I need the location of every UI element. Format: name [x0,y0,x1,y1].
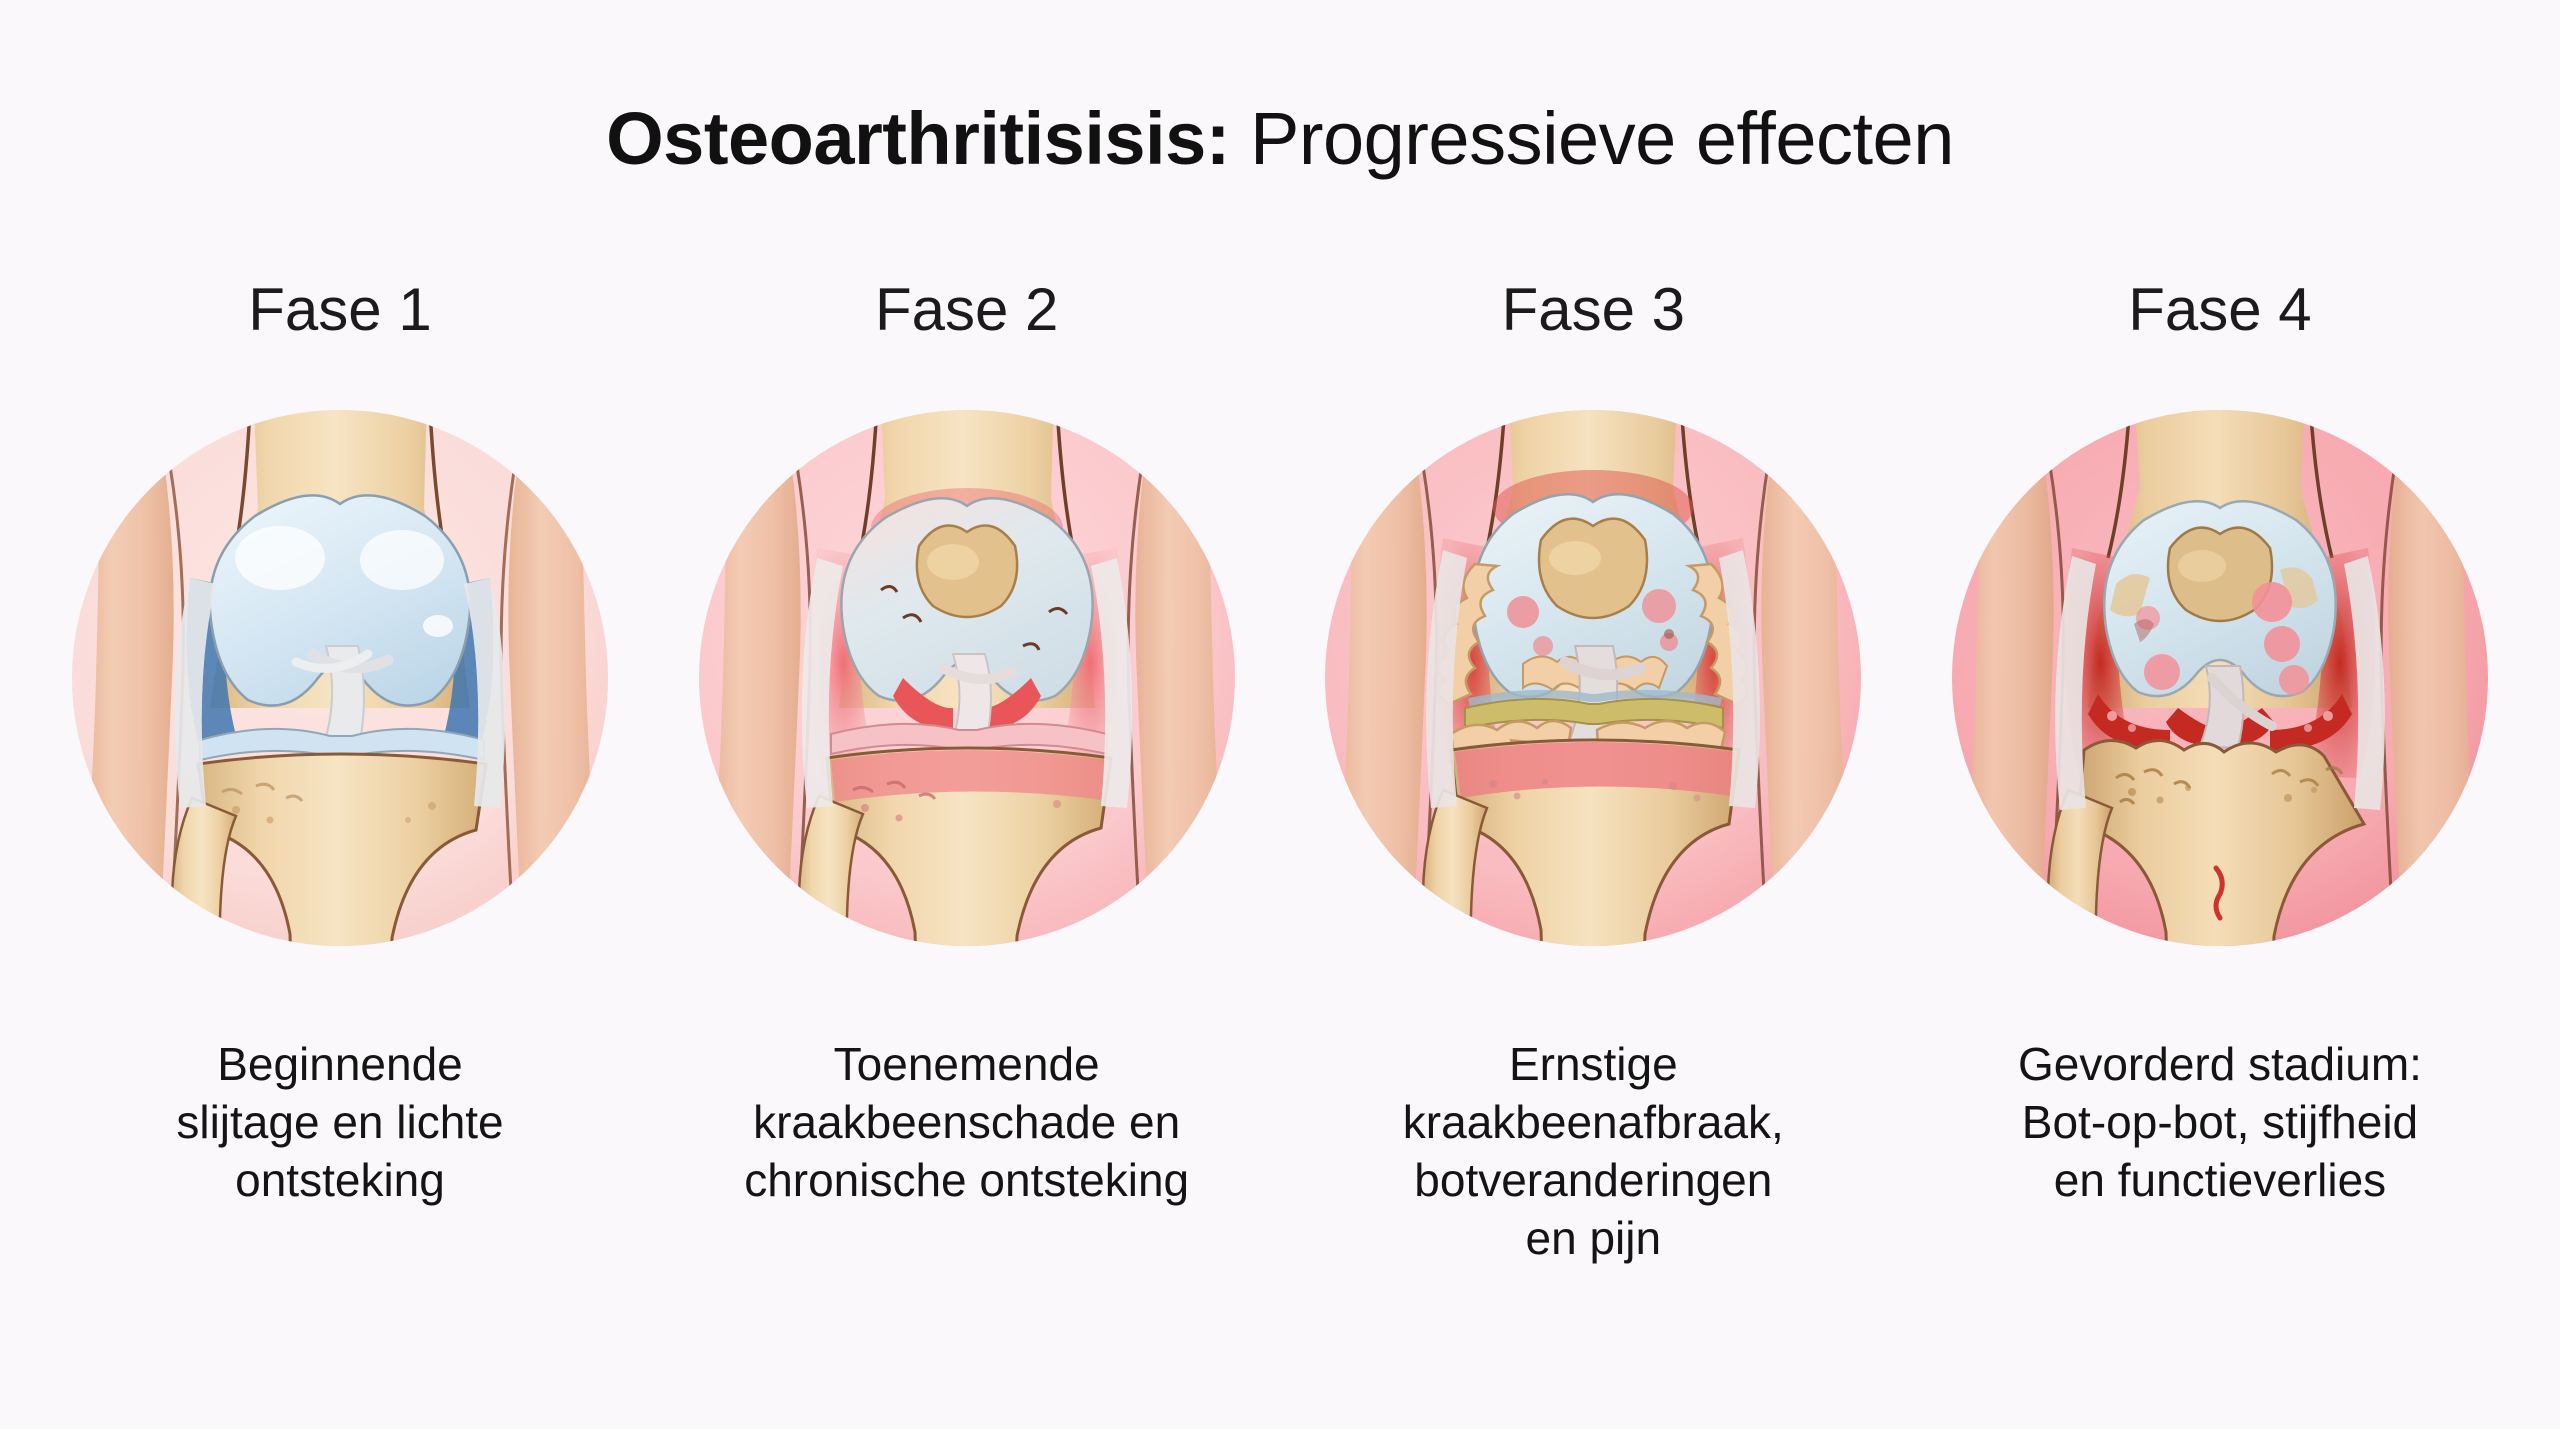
knee-illustration-2 [667,378,1267,978]
stage-caption-1: Beginnende slijtage en lichte ontsteking [50,1036,630,1210]
stage-panels: Fase 1 [0,280,2560,1420]
stage-panel-4: Fase 4 [1920,280,2520,1210]
knee-illustration-3 [1293,378,1893,978]
knee-illustration-4 [1920,378,2520,978]
cartilage-lesion [2252,582,2292,622]
stage-label-1: Fase 1 [248,280,431,340]
stage-label-2: Fase 2 [875,280,1058,340]
osteoarthritis-infographic: Osteoarthritisisis: Progressieve effecte… [0,0,2560,1429]
stage-caption-3: Ernstige kraakbeenafbraak, botveranderin… [1303,1036,1883,1268]
stage-panel-1: Fase 1 [40,280,640,1210]
page-title-bold: Osteoarthritisisis: [606,97,1230,180]
stage-label-4: Fase 4 [2128,280,2311,340]
stage-panel-2: Fase 2 [667,280,1267,1210]
stage-caption-4: Gevorderd stadium: Bot-op-bot, stijfheid… [1930,1036,2510,1210]
knee-illustration-1 [40,378,640,978]
stage-label-3: Fase 3 [1502,280,1685,340]
page-title-regular: Progressieve effecten [1230,97,1954,180]
page-title: Osteoarthritisisis: Progressieve effecte… [0,96,2560,181]
cartilage-lesion [1507,596,1539,628]
stage-panel-3: Fase 3 [1293,280,1893,1268]
stage-caption-2: Toenemende kraakbeenschade en chronische… [677,1036,1257,1210]
